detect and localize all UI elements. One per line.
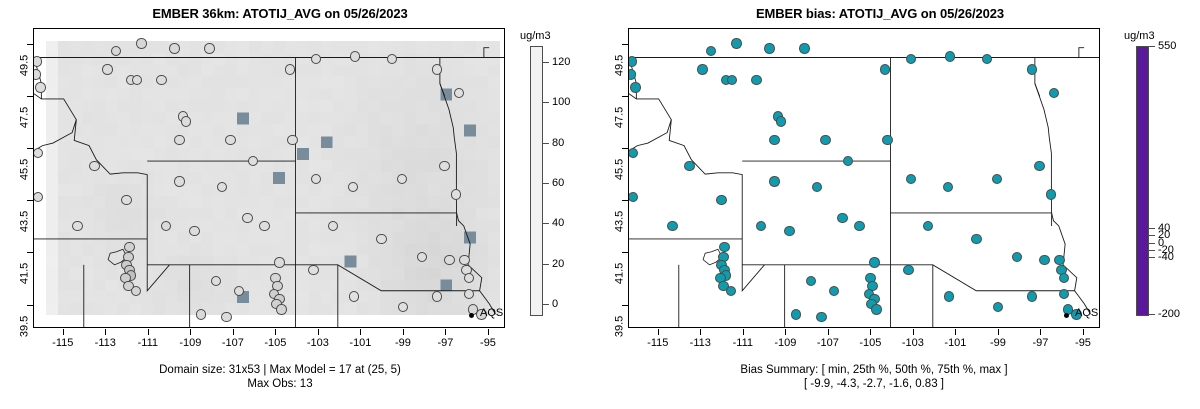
station-marker (432, 291, 442, 301)
station-marker (923, 221, 933, 231)
y-axis-tick (27, 305, 33, 306)
x-axis-tick (488, 329, 489, 335)
y-axis-tick (622, 44, 628, 45)
station-marker (806, 276, 816, 286)
station-marker (242, 213, 252, 223)
station-marker (33, 192, 43, 202)
station-marker (727, 75, 737, 85)
colorbar-label: 20 (552, 258, 564, 270)
station-marker (791, 309, 801, 319)
colorbar-title-model: ug/m3 (520, 30, 551, 42)
station-marker (756, 221, 766, 231)
station-marker (992, 174, 1002, 184)
station-marker (667, 221, 677, 231)
x-axis-label: -115 (647, 337, 668, 349)
x-axis-tick (1083, 329, 1084, 335)
station-marker (764, 43, 774, 53)
figure-root: EMBER 36km: ATOTIJ_AVG on 05/26/2023 AQS… (0, 0, 1200, 409)
station-marker (417, 252, 427, 262)
x-axis-tick (1040, 329, 1041, 335)
station-marker (628, 148, 638, 158)
station-marker (131, 286, 141, 296)
station-marker (1012, 252, 1022, 262)
colorbar-tick (542, 223, 549, 224)
x-axis-tick (700, 329, 701, 335)
station-marker (630, 82, 640, 92)
station-marker (706, 46, 716, 56)
station-marker (726, 286, 736, 296)
station-marker (308, 265, 318, 275)
colorbar-tick (1148, 235, 1155, 236)
panel-bias: EMBER bias: ATOTIJ_AVG on 05/26/2023 AQS… (600, 0, 1200, 409)
station-marker (1054, 255, 1064, 265)
station-marker (33, 69, 41, 79)
colorbar-tick (542, 62, 549, 63)
y-axis-label: 45.5 (18, 159, 30, 180)
station-marker (225, 135, 235, 145)
x-axis-tick (275, 329, 276, 335)
station-marker (276, 304, 286, 314)
x-axis-tick (913, 329, 914, 335)
colorbar-tick (1148, 46, 1155, 47)
x-axis-label: -107 (817, 337, 839, 349)
colorbar-tick (542, 183, 549, 184)
y-axis-tick (27, 200, 33, 201)
station-marker (35, 82, 45, 92)
x-axis-label: -111 (138, 337, 158, 349)
x-axis-label: -109 (774, 337, 796, 349)
aqs-legend-label: AQS (1075, 307, 1098, 319)
station-marker (174, 176, 184, 186)
station-marker (169, 43, 179, 53)
station-marker (89, 161, 99, 171)
station-marker (971, 234, 981, 244)
colorbar-label: 120 (552, 56, 570, 68)
station-marker (124, 242, 134, 252)
aqs-legend-label: AQS (480, 307, 503, 319)
y-axis-tick (622, 200, 628, 201)
colorbar-label: 40 (552, 217, 564, 229)
map-plot-bias: AQS (628, 28, 1100, 328)
colorbar-tick (542, 143, 549, 144)
station-marker (1059, 289, 1069, 299)
x-axis-label: -97 (1033, 337, 1049, 349)
y-axis-label: 45.5 (613, 159, 625, 180)
station-marker (903, 265, 913, 275)
station-marker (439, 161, 449, 171)
y-axis-tick (27, 44, 33, 45)
x-axis-tick (403, 329, 404, 335)
x-axis-tick (998, 329, 999, 335)
y-axis-label: 47.5 (18, 107, 30, 128)
station-marker (943, 182, 953, 192)
station-marker (776, 116, 786, 126)
station-marker (464, 273, 474, 283)
station-marker (259, 221, 269, 231)
colorbar-tick (1148, 228, 1155, 229)
caption-bias-line1: Bias Summary: [ min, 25th %, 50th %, 75t… (594, 363, 1154, 377)
station-marker (882, 135, 892, 145)
y-axis-tick (622, 252, 628, 253)
station-marker (684, 161, 694, 171)
station-marker (769, 135, 779, 145)
station-marker (945, 51, 955, 61)
x-axis-model: -115-113-111-109-107-105-103-101-99-97-9… (33, 329, 505, 353)
station-marker (349, 291, 359, 301)
colorbar-tick (542, 264, 549, 265)
y-axis-label: 39.5 (613, 315, 625, 336)
station-marker (628, 69, 636, 79)
x-axis-label: -115 (52, 337, 73, 349)
station-marker (102, 64, 112, 74)
map-plot-model: AQS (33, 28, 505, 328)
y-axis-label: 39.5 (18, 315, 30, 336)
station-marker (136, 38, 146, 48)
colorbar-tick (1148, 243, 1155, 244)
station-marker (697, 64, 707, 74)
x-axis-label: -95 (1075, 337, 1091, 349)
station-marker (454, 88, 464, 98)
colorbar-label: 60 (552, 177, 564, 189)
station-marker (328, 221, 338, 231)
station-marker (1027, 291, 1037, 301)
aqs-legend-dot (1064, 313, 1069, 318)
station-marker (628, 56, 637, 66)
y-axis-label: 47.5 (613, 107, 625, 128)
colorbar-tick (1148, 250, 1155, 251)
x-axis-tick (658, 329, 659, 335)
colorbar-label: 550 (1158, 40, 1176, 52)
x-axis-label: -107 (222, 337, 244, 349)
station-marker (350, 51, 360, 61)
station-marker (376, 234, 386, 244)
station-marker (274, 257, 284, 267)
colorbar-model: ug/m3 020406080100120 (512, 0, 607, 409)
x-axis-label: -105 (264, 337, 286, 349)
y-axis-tick (27, 148, 33, 149)
x-axis-label: -103 (307, 337, 329, 349)
station-marker (464, 289, 474, 299)
panel-title-model: EMBER 36km: ATOTIJ_AVG on 05/26/2023 (0, 6, 560, 21)
station-marker (287, 135, 297, 145)
x-axis-label: -105 (859, 337, 881, 349)
colorbar-label: 80 (552, 137, 564, 149)
station-marker (221, 312, 231, 322)
y-axis-tick (622, 148, 628, 149)
panel-model: EMBER 36km: ATOTIJ_AVG on 05/26/2023 AQS… (0, 0, 600, 409)
station-marker (837, 213, 847, 223)
station-marker (459, 255, 469, 265)
station-marker (843, 156, 853, 166)
station-marker (444, 255, 454, 265)
station-marker (982, 54, 992, 64)
station-marker (174, 135, 184, 145)
y-axis-tick (622, 96, 628, 97)
x-axis-label: -101 (349, 337, 371, 349)
station-marker (432, 64, 442, 74)
station-marker (33, 148, 43, 158)
station-marker (398, 302, 408, 312)
station-marker (784, 226, 794, 236)
caption-model-line2: Max Obs: 13 (0, 377, 560, 391)
station-marker (812, 182, 822, 192)
station-marker (719, 242, 729, 252)
station-marker (132, 75, 142, 85)
y-axis-label: 49.5 (18, 54, 30, 75)
x-axis-tick (190, 329, 191, 335)
y-axis-label: 49.5 (613, 54, 625, 75)
station-marker (1059, 273, 1069, 283)
x-axis-tick (955, 329, 956, 335)
x-axis-label: -103 (902, 337, 924, 349)
y-axis-label: 43.5 (18, 211, 30, 232)
x-axis-tick (233, 329, 234, 335)
x-axis-tick (785, 329, 786, 335)
station-marker (196, 309, 206, 319)
x-axis-label: -99 (395, 337, 411, 349)
colorbar-label: -200 (1158, 308, 1180, 320)
station-marker (871, 304, 881, 314)
station-marker (121, 195, 131, 205)
station-marker (72, 221, 82, 231)
x-axis-tick (445, 329, 446, 335)
station-marker (880, 64, 890, 74)
station-marker (993, 302, 1003, 312)
station-marker (311, 174, 321, 184)
y-axis-bias: 39.541.543.545.547.549.5 (621, 28, 628, 328)
station-marker (816, 312, 826, 322)
y-axis-tick (27, 252, 33, 253)
x-axis-label: -95 (480, 337, 496, 349)
station-marker (751, 75, 761, 85)
station-marker (1034, 161, 1044, 171)
colorbar-tick (1148, 314, 1155, 315)
y-axis-model: 39.541.543.545.547.549.5 (26, 28, 33, 328)
station-marker (161, 221, 171, 231)
station-marker (234, 286, 244, 296)
station-marker (451, 189, 461, 199)
x-axis-label: -111 (733, 337, 753, 349)
colorbar-tick (542, 102, 549, 103)
caption-model-line1: Domain size: 31x53 | Max Model = 17 at (… (0, 363, 560, 377)
station-marker (799, 43, 809, 53)
station-marker (387, 54, 397, 64)
station-marker (156, 75, 166, 85)
station-marker (217, 182, 227, 192)
station-markers-bias (629, 29, 1099, 327)
station-marker (311, 54, 321, 64)
station-marker (1049, 88, 1059, 98)
station-marker (820, 135, 830, 145)
station-marker (33, 56, 42, 66)
x-axis-bias: -115-113-111-109-107-105-103-101-99-97-9… (628, 329, 1100, 353)
station-marker (944, 291, 954, 301)
caption-bias-line2: [ -9.9, -4.3, -2.7, -1.6, 0.83 ] (594, 377, 1154, 391)
station-marker (397, 174, 407, 184)
colorbar-label: 100 (552, 96, 570, 108)
x-axis-tick (63, 329, 64, 335)
station-marker (248, 156, 258, 166)
y-axis-label: 41.5 (613, 263, 625, 284)
x-axis-label: -109 (179, 337, 201, 349)
station-marker (285, 64, 295, 74)
x-axis-tick (743, 329, 744, 335)
x-axis-tick (360, 329, 361, 335)
x-axis-label: -113 (95, 337, 116, 349)
x-axis-tick (870, 329, 871, 335)
colorbar-bias: ug/m3 -200-40-2002040550 (1118, 0, 1200, 409)
y-axis-label: 43.5 (613, 211, 625, 232)
x-axis-tick (105, 329, 106, 335)
colorbar-title-bias: ug/m3 (1124, 30, 1155, 42)
x-axis-label: -97 (438, 337, 454, 349)
station-marker (1046, 189, 1056, 199)
colorbar-gradient-bias (1136, 46, 1149, 316)
station-marker (1027, 64, 1037, 74)
colorbar-label: 40 (1158, 222, 1170, 234)
station-marker (906, 54, 916, 64)
colorbar-tick (1148, 257, 1155, 258)
x-axis-label: -99 (990, 337, 1006, 349)
station-marker (716, 195, 726, 205)
x-axis-tick (148, 329, 149, 335)
station-marker (111, 46, 121, 56)
x-axis-tick (318, 329, 319, 335)
y-axis-tick (27, 96, 33, 97)
panel-title-bias: EMBER bias: ATOTIJ_AVG on 05/26/2023 (600, 6, 1160, 21)
x-axis-label: -113 (690, 337, 711, 349)
station-marker (189, 226, 199, 236)
station-marker (204, 43, 214, 53)
colorbar-gradient-model (530, 46, 543, 316)
colorbar-label: 0 (552, 298, 558, 310)
station-marker (1039, 255, 1049, 265)
station-marker (854, 221, 864, 231)
station-marker (628, 192, 638, 202)
station-marker (181, 116, 191, 126)
station-marker (731, 38, 741, 48)
aqs-legend-dot (469, 313, 474, 318)
x-axis-tick (828, 329, 829, 335)
station-marker (906, 174, 916, 184)
station-marker (348, 182, 358, 192)
station-marker (829, 286, 839, 296)
station-marker (869, 257, 879, 267)
station-marker (211, 276, 221, 286)
y-axis-label: 41.5 (18, 263, 30, 284)
y-axis-tick (622, 305, 628, 306)
station-markers-model (34, 29, 504, 327)
colorbar-tick (542, 304, 549, 305)
station-marker (769, 176, 779, 186)
x-axis-label: -101 (944, 337, 966, 349)
